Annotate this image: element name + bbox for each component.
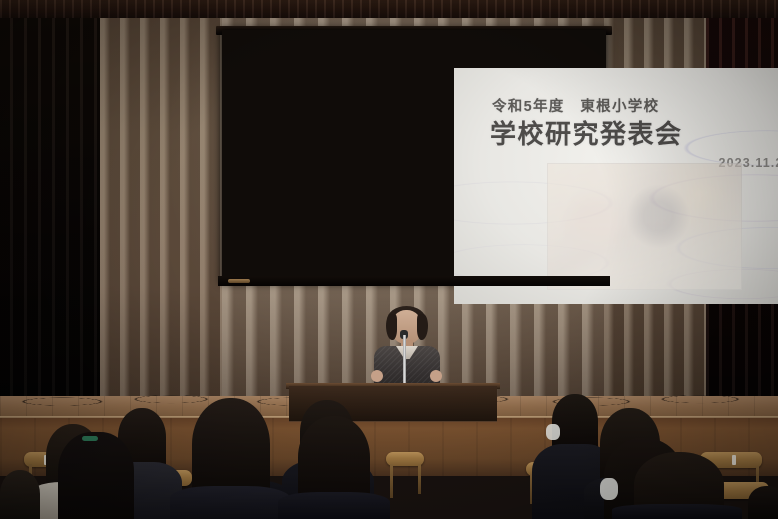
- face-mask: [600, 478, 618, 500]
- slide-title: 学校研究発表会: [490, 114, 683, 151]
- presenter-hand-left: [371, 370, 383, 382]
- face-mask: [546, 424, 560, 440]
- projection-screen-frame: 令和5年度 東根小学校 学校研究発表会 2023.11.22.: [222, 30, 606, 282]
- audience-head: [552, 394, 598, 450]
- audience-head: [748, 486, 778, 519]
- audience-head: [0, 470, 40, 519]
- slide-subtitle: 令和5年度 東根小学校: [492, 95, 659, 116]
- projected-slide: 令和5年度 東根小学校 学校研究発表会 2023.11.22.: [454, 68, 778, 304]
- presenter: [370, 310, 444, 390]
- audience-torso: [278, 492, 390, 519]
- presenter-hair-left: [386, 314, 397, 340]
- hair-accessory: [82, 436, 98, 441]
- chair-tag: [732, 455, 736, 465]
- slide-inset-photo: [547, 163, 742, 290]
- chair-leg: [390, 464, 393, 498]
- audience-head: [192, 398, 270, 494]
- screen-bottom-bar: [218, 276, 610, 286]
- audience-torso: [170, 486, 290, 519]
- curtain-beige-left: [100, 18, 232, 400]
- audience-head: [58, 432, 134, 519]
- screen-pull-handle[interactable]: [228, 279, 250, 283]
- photo-scene: 令和5年度 東根小学校 学校研究発表会 2023.11.22.: [0, 0, 778, 519]
- presenter-hand-right: [430, 370, 442, 382]
- audience-torso: [612, 504, 742, 519]
- chair-leg: [418, 464, 421, 494]
- audience-head: [298, 416, 370, 502]
- presenter-hair-right: [417, 314, 428, 340]
- curtain-dark-left: [0, 18, 102, 398]
